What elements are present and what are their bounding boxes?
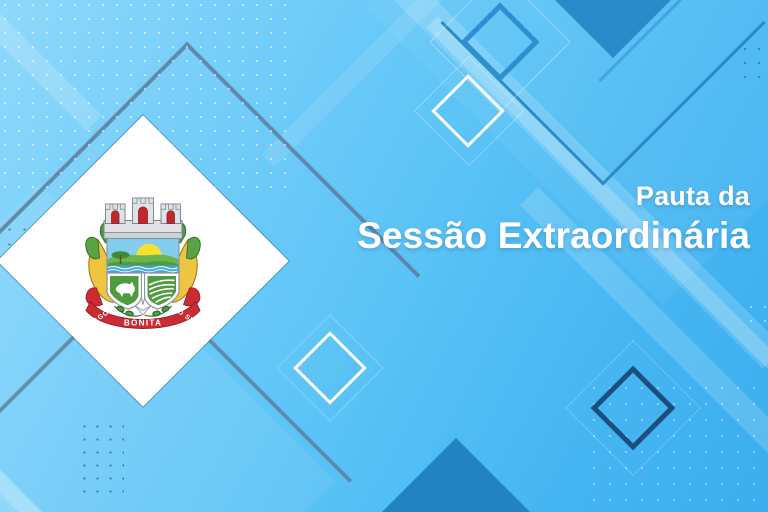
diamond-outline-faint-top-right — [429, 0, 570, 113]
dot-grid-right-mid — [744, 300, 768, 330]
triangle-top-icon — [555, 0, 671, 58]
dot-grid-top-right — [738, 42, 768, 84]
diamond-outline-faint-bottom-right — [565, 340, 701, 476]
diamond-outline-blue-top-right — [460, 2, 539, 81]
dot-grid-bottom-right — [586, 380, 768, 512]
diamond-outline-white-center-bottom — [293, 331, 367, 405]
mural-crown-icon — [104, 198, 182, 239]
triangle-bottom-icon — [382, 438, 530, 512]
ribbon-center-text: BONITA — [124, 319, 162, 328]
dot-grid-bottom-left — [78, 420, 124, 500]
diamond-outline-white-center-top — [431, 74, 505, 148]
banner-title: Sessão Extraordinária — [320, 214, 750, 258]
stripe-left-2 — [0, 359, 199, 512]
wash-panel-right — [365, 0, 768, 305]
event-banner: BONITA LAGOA DO SUL Pauta da Sessão Extr… — [0, 0, 768, 512]
diamond-outline-faint-center-top — [414, 56, 524, 166]
banner-subtitle: Pauta da — [320, 182, 750, 212]
banner-title-block: Pauta da Sessão Extraordinária — [320, 182, 750, 257]
coat-of-arms-icon: BONITA LAGOA DO SUL — [68, 186, 218, 336]
stripe-center — [262, 0, 699, 167]
stripe-left-3 — [0, 0, 102, 131]
emblem-container: BONITA LAGOA DO SUL — [40, 158, 246, 364]
diamond-outline-faint-center-bottom — [276, 314, 383, 421]
shield-landscape — [107, 239, 179, 274]
diamond-outline-navy-bottom-right — [591, 366, 676, 451]
chevron-blue-upper-right — [440, 0, 765, 186]
